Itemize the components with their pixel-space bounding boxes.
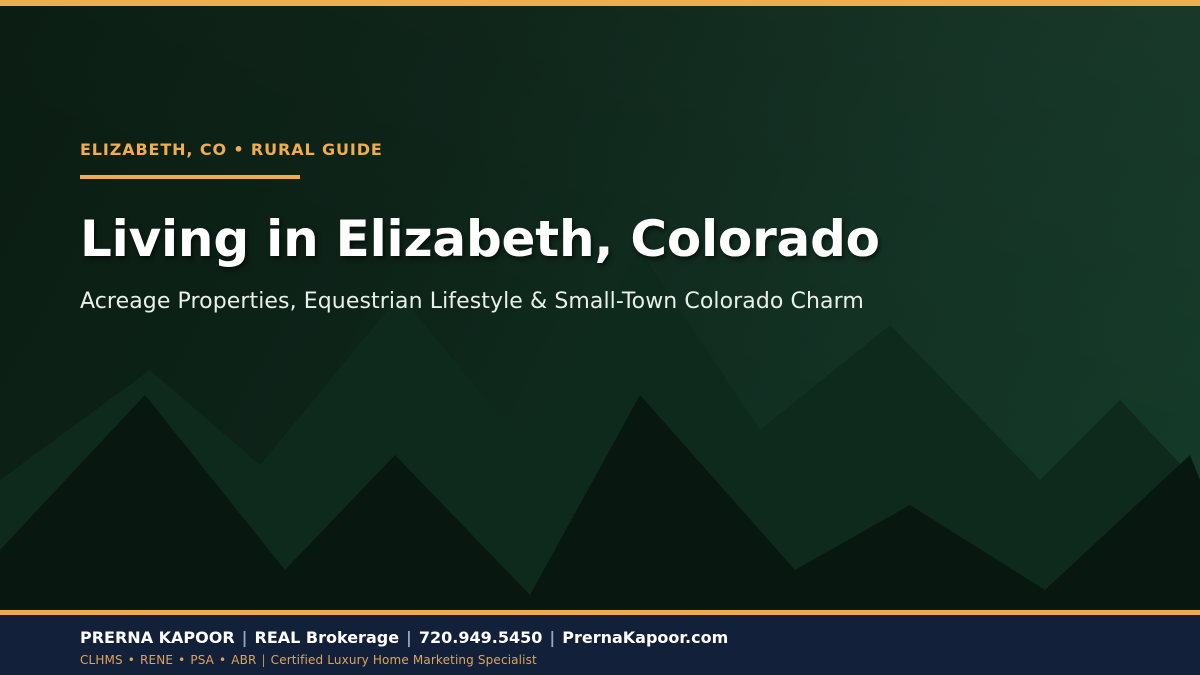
footer-credentials-line: CLHMS•RENE•PSA•ABR|Certified Luxury Home… [80, 653, 1200, 669]
footer-phone[interactable]: 720.949.5450 [419, 628, 542, 647]
slide-content: ELIZABETH, CO • RURAL GUIDE Living in El… [80, 140, 1120, 316]
footer-bar: PRERNA KAPOOR|REAL Brokerage|720.949.545… [0, 610, 1200, 675]
footer-website-link[interactable]: PrernaKapoor.com [562, 628, 728, 647]
footer-separator-3: | [542, 628, 562, 647]
footer-brokerage: REAL Brokerage [255, 628, 400, 647]
credential-dot-1: • [123, 653, 140, 667]
footer-contact-line: PRERNA KAPOOR|REAL Brokerage|720.949.545… [80, 628, 1200, 648]
credential-dot-3: • [214, 653, 231, 667]
footer-separator-1: | [235, 628, 255, 647]
credential-psa: PSA [190, 653, 214, 667]
page-subtitle: Acreage Properties, Equestrian Lifestyle… [80, 288, 1120, 317]
top-accent-bar [0, 0, 1200, 6]
credential-abr: ABR [231, 653, 256, 667]
page-title: Living in Elizabeth, Colorado [80, 212, 1120, 266]
footer-separator-2: | [399, 628, 419, 647]
credential-clhms: CLHMS [80, 653, 123, 667]
designation-label: Certified Luxury Home Marketing Speciali… [271, 653, 537, 667]
kicker-eyebrow: ELIZABETH, CO • RURAL GUIDE [80, 140, 1120, 161]
credential-pipe: | [256, 653, 270, 667]
footer-agent-name: PRERNA KAPOOR [80, 628, 235, 647]
credential-dot-2: • [173, 653, 190, 667]
credential-rene: RENE [140, 653, 173, 667]
kicker-underline-rule [80, 175, 300, 179]
title-slide: ELIZABETH, CO • RURAL GUIDE Living in El… [0, 0, 1200, 675]
